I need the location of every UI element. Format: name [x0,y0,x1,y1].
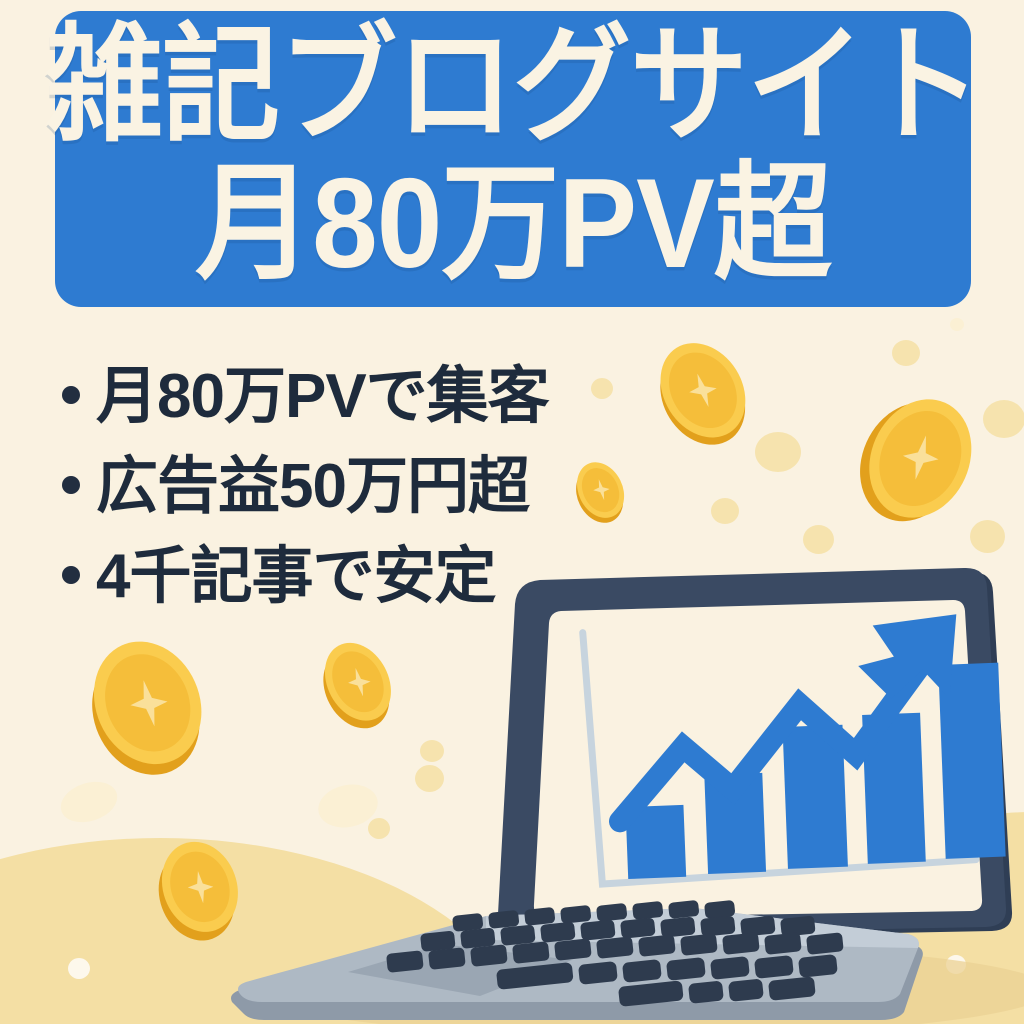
coin-edge [842,386,981,537]
coin-inner [865,398,976,519]
coin-star-icon [898,434,944,482]
decor-dot-13 [950,318,964,331]
bullet-label: 広告益50万円超 [96,456,529,518]
coin-inner [655,340,750,441]
coin-face [643,327,762,453]
decor-dot-6 [983,400,1024,438]
bullet-dot-icon [62,476,80,494]
bullet-dot-icon [62,566,80,584]
list-item: 月80万PVで集客 [62,352,582,442]
banner-headline-secondary: 月80万PV超 [195,160,831,287]
decor-dot-14 [68,958,90,979]
laptop-svg [180,520,1024,1024]
banner-headline-primary: 雑記ブログサイト [45,22,981,149]
bullet-dot-icon [62,386,80,404]
coin-edge [643,334,762,460]
list-item: 広告益50万円超 [62,442,582,532]
coin-star-icon [125,678,173,728]
poster-canvas: 雑記ブログサイト 月80万PV超 月80万PVで集客 広告益50万円超 4千記事… [0,0,1024,1024]
decor-dot-11 [56,775,123,829]
decor-dot-1 [755,432,801,472]
laptop-illustration [180,520,1024,1024]
decor-dot-5 [591,378,613,399]
coin-inner [575,462,627,519]
title-banner: 雑記ブログサイト 月80万PV超 [55,11,971,307]
coin-face [851,383,990,534]
bullet-label: 月80万PVで集客 [96,366,549,428]
decor-dot-4 [892,340,920,366]
coin-star-icon [591,479,613,501]
coin-star-icon [684,372,723,409]
